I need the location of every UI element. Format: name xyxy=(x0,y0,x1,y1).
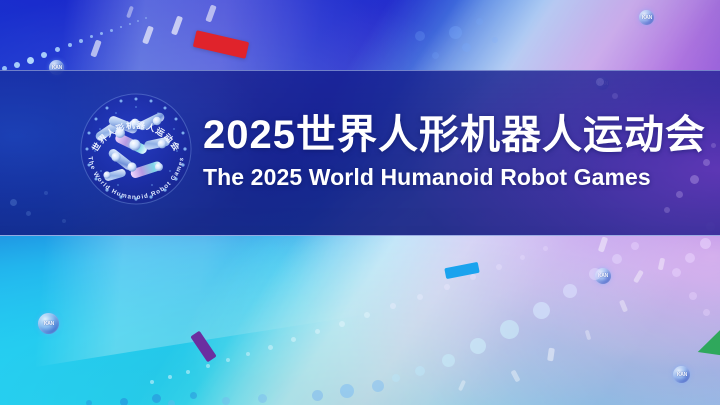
decor-purple-rectangle xyxy=(190,331,216,363)
title-block: 2025世界人形机器人运动会 The 2025 World Humanoid R… xyxy=(203,113,663,191)
page-title-cn: 2025世界人形机器人运动会 xyxy=(203,113,663,158)
decor-lower xyxy=(0,234,720,405)
decor-green-triangle xyxy=(698,318,720,355)
games-emblem: 世界人形机器人运动会 The World Humanoid Robot Game… xyxy=(74,87,198,211)
poster-canvas: KAN KAN KAN KAN KAN KAN xyxy=(0,0,720,405)
page-subtitle-en: The 2025 World Humanoid Robot Games xyxy=(203,164,663,191)
title-band: 世界人形机器人运动会 The World Humanoid Robot Game… xyxy=(0,70,720,236)
